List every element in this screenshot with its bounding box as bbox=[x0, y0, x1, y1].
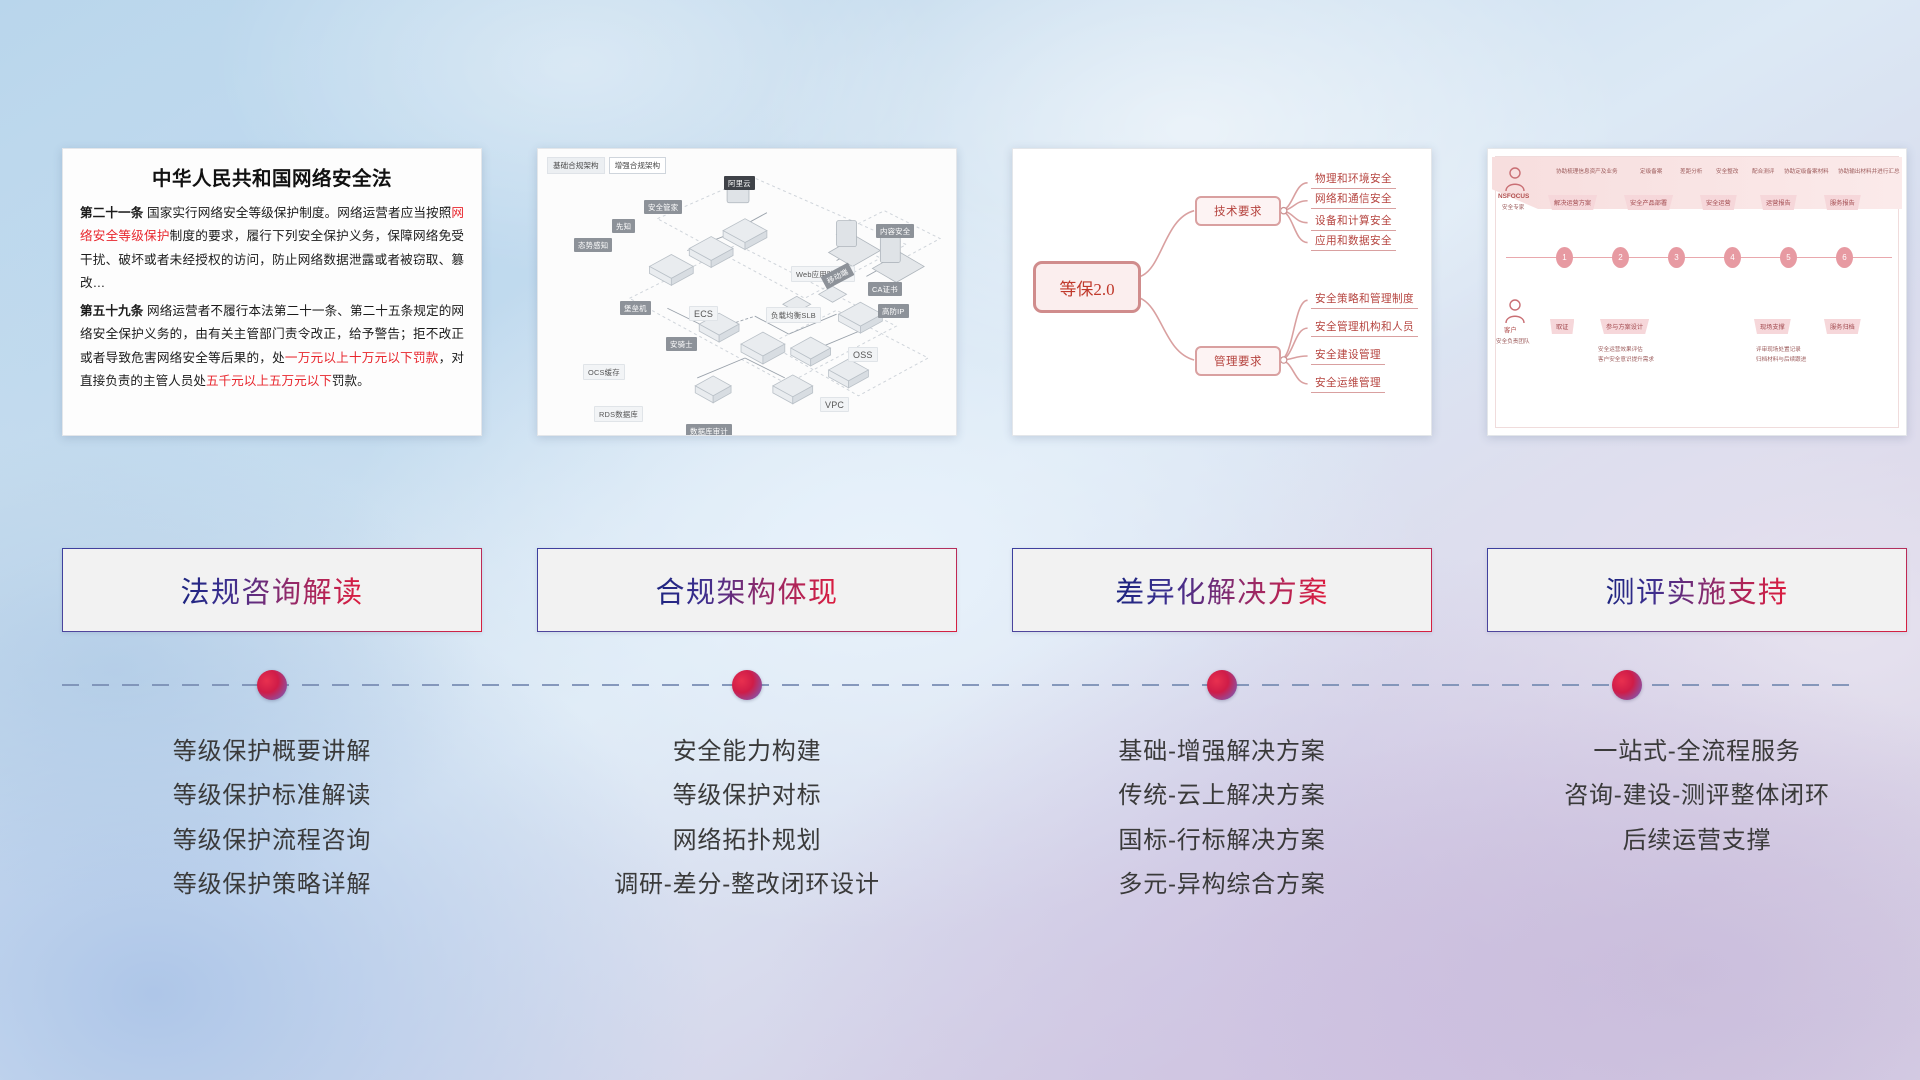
list-item: 调研-差分-整改闭环设计 bbox=[614, 869, 880, 901]
note-item: 客户安全意识提升需求 bbox=[1598, 355, 1654, 363]
brand-name: NSFOCUS bbox=[1498, 193, 1529, 200]
header-tag: 安全运营 bbox=[1700, 195, 1737, 210]
mind-branch-management: 管理要求 bbox=[1195, 346, 1281, 376]
mind-leaf: 网络和通信安全 bbox=[1311, 191, 1396, 209]
law-text-highlight: 五千元以上五万元以下 bbox=[206, 374, 332, 388]
list-item: 咨询-建设-测评整体闭环 bbox=[1564, 780, 1830, 812]
list-item: 传统-云上解决方案 bbox=[1118, 780, 1325, 812]
service-list-compliance-architecture: 安全能力构建 等级保护对标 网络拓扑规划 调研-差分-整改闭环设计 bbox=[537, 736, 957, 902]
list-item: 等级保护策略详解 bbox=[173, 869, 371, 901]
node-label-load-balancer: 负载均衡SLB bbox=[766, 307, 821, 323]
node-label-anqishi: 安骑士 bbox=[666, 337, 697, 351]
mind-leaf: 物理和环境安全 bbox=[1311, 171, 1396, 189]
node-label-xianzhi: 先知 bbox=[612, 219, 635, 233]
note-item: 安全运营效果评估 bbox=[1598, 345, 1643, 353]
timeline-dot-3 bbox=[1207, 670, 1237, 700]
thumbnail-row: 中华人民共和国网络安全法 第二十一条 国家实行网络安全等级保护制度。网络运营者应… bbox=[62, 148, 1862, 436]
mind-leaf: 安全策略和管理制度 bbox=[1311, 291, 1418, 309]
node-label-rds-database: RDS数据库 bbox=[594, 406, 643, 422]
timeline-step: 3 bbox=[1668, 247, 1685, 268]
mind-leaf: 应用和数据安全 bbox=[1311, 233, 1396, 251]
node-label-aliyun: 阿里云 bbox=[724, 176, 755, 190]
thumbnail-cloud-architecture[interactable]: 基础合规架构 增强合规架构 bbox=[537, 148, 957, 436]
node-label-database-audit: 数据库审计 bbox=[686, 424, 732, 436]
banner-row: 法规咨询解读 合规架构体现 差异化解决方案 测评实施支持 bbox=[62, 548, 1862, 632]
header-tag: 安全产品部署 bbox=[1624, 195, 1673, 210]
header-item: 定级备案 bbox=[1640, 167, 1662, 175]
list-item: 后续运营支撑 bbox=[1623, 825, 1772, 857]
note-item: 归档材料与后续跟进 bbox=[1756, 355, 1806, 363]
banner-regulation-consulting[interactable]: 法规咨询解读 bbox=[62, 548, 482, 632]
list-item: 基础-增强解决方案 bbox=[1118, 736, 1325, 768]
timeline-dashed-line bbox=[62, 684, 1862, 686]
banner-compliance-architecture[interactable]: 合规架构体现 bbox=[537, 548, 957, 632]
customer-person-icon bbox=[1502, 297, 1528, 327]
timeline-dot-1 bbox=[257, 670, 287, 700]
thumbnail-law-document[interactable]: 中华人民共和国网络安全法 第二十一条 国家实行网络安全等级保护制度。网络运营者应… bbox=[62, 148, 482, 436]
node-label-bastion-host: 堡垒机 bbox=[620, 301, 651, 315]
mind-leaf: 安全管理机构和人员 bbox=[1311, 319, 1418, 337]
law-article-number: 第二十一条 bbox=[80, 206, 143, 220]
service-list-assessment-support: 一站式-全流程服务 咨询-建设-测评整体闭环 后续运营支撑 bbox=[1487, 736, 1907, 902]
law-text-highlight: 一万元以上十万元以下罚款 bbox=[285, 351, 439, 365]
list-item: 一站式-全流程服务 bbox=[1593, 736, 1800, 768]
node-label-situation-awareness: 态势感知 bbox=[574, 238, 612, 252]
timeline-dot-2 bbox=[732, 670, 762, 700]
list-item: 等级保护概要讲解 bbox=[173, 736, 371, 768]
list-item: 等级保护流程咨询 bbox=[173, 825, 371, 857]
bottom-tag: 现场支撑 bbox=[1754, 319, 1791, 334]
banner-label: 差异化解决方案 bbox=[1115, 569, 1329, 611]
mind-map-root: 等保2.0 bbox=[1033, 261, 1141, 313]
list-item: 安全能力构建 bbox=[673, 736, 822, 768]
service-list-differentiated-solution: 基础-增强解决方案 传统-云上解决方案 国标-行标解决方案 多元-异构综合方案 bbox=[1012, 736, 1432, 902]
expert-person-icon bbox=[1502, 165, 1528, 195]
list-item: 等级保护标准解读 bbox=[173, 780, 371, 812]
law-paragraph-59: 第五十九条 网络运营者不履行本法第二十一条、第二十五条规定的网络安全保护义务的，… bbox=[80, 300, 464, 393]
banner-label: 测评实施支持 bbox=[1605, 569, 1788, 611]
header-item: 协助定级备案材料 bbox=[1784, 167, 1829, 175]
header-item: 协助输出材料并进行汇总 bbox=[1838, 167, 1900, 175]
bottom-tag: 服务归档 bbox=[1824, 319, 1861, 334]
node-label-anti-ddos-ip: 高防IP bbox=[878, 304, 909, 318]
law-text: 国家实行网络安全等级保护制度。网络运营者应当按照 bbox=[143, 206, 451, 220]
timeline-step: 4 bbox=[1724, 247, 1741, 268]
node-label-ecs: ECS bbox=[689, 306, 718, 321]
node-label-ocs-cache: OCS缓存 bbox=[583, 364, 625, 380]
timeline-step: 1 bbox=[1556, 247, 1573, 268]
header-item: 差距分析 bbox=[1680, 167, 1702, 175]
bottom-tag: 取证 bbox=[1550, 319, 1574, 334]
mind-leaf: 安全建设管理 bbox=[1311, 347, 1385, 365]
law-text: 罚款。 bbox=[332, 374, 370, 388]
header-item: 协助梳理信息资产及业务 bbox=[1556, 167, 1618, 175]
service-list-row: 等级保护概要讲解 等级保护标准解读 等级保护流程咨询 等级保护策略详解 安全能力… bbox=[62, 736, 1862, 902]
service-list-regulation-consulting: 等级保护概要讲解 等级保护标准解读 等级保护流程咨询 等级保护策略详解 bbox=[62, 736, 482, 902]
banner-assessment-support[interactable]: 测评实施支持 bbox=[1487, 548, 1907, 632]
customer-label: 客户 bbox=[1504, 325, 1517, 334]
header-item: 安全整改 bbox=[1716, 167, 1738, 175]
node-label-security-butler: 安全管家 bbox=[644, 200, 682, 214]
mind-leaf: 安全运维管理 bbox=[1311, 375, 1385, 393]
header-tag: 解决运营方案 bbox=[1548, 195, 1597, 210]
bottom-tag: 参与方案设计 bbox=[1600, 319, 1649, 334]
thumbnail-mind-map[interactable]: 等保2.0 技术要求 管理要求 物理和环境安全 网络和通信安全 设备和计算安全 … bbox=[1012, 148, 1432, 436]
mind-branch-technical: 技术要求 bbox=[1195, 196, 1281, 226]
timeline-step: 5 bbox=[1780, 247, 1797, 268]
note-item: 评审现场处置记录 bbox=[1756, 345, 1801, 353]
brand-subtitle: 安全专家 bbox=[1502, 203, 1524, 211]
list-item: 等级保护对标 bbox=[673, 780, 822, 812]
header-tag: 服务报告 bbox=[1824, 195, 1861, 210]
law-title: 中华人民共和国网络安全法 bbox=[80, 162, 464, 191]
list-item: 网络拓扑规划 bbox=[673, 825, 822, 857]
timeline-dot-4 bbox=[1612, 670, 1642, 700]
header-tag: 运营报告 bbox=[1760, 195, 1797, 210]
header-item: 配合测评 bbox=[1752, 167, 1774, 175]
mind-leaf: 设备和计算安全 bbox=[1311, 213, 1396, 231]
banner-label: 合规架构体现 bbox=[655, 569, 838, 611]
timeline-step: 2 bbox=[1612, 247, 1629, 268]
banner-label: 法规咨询解读 bbox=[180, 569, 363, 611]
timeline-step: 6 bbox=[1836, 247, 1853, 268]
node-label-vpc: VPC bbox=[820, 397, 849, 412]
customer-subtitle: 安全负责团队 bbox=[1496, 337, 1530, 345]
node-label-content-security: 内容安全 bbox=[876, 224, 914, 238]
node-label-oss: OSS bbox=[848, 347, 878, 362]
law-paragraph-21: 第二十一条 国家实行网络安全等级保护制度。网络运营者应当按照网络安全等级保护制度… bbox=[80, 202, 464, 295]
law-article-number: 第五十九条 bbox=[80, 304, 143, 318]
list-item: 国标-行标解决方案 bbox=[1118, 825, 1325, 857]
banner-differentiated-solution[interactable]: 差异化解决方案 bbox=[1012, 548, 1432, 632]
thumbnail-service-timeline[interactable]: NSFOCUS 安全专家 协助梳理信息资产及业务 定级备案 差距分析 安全整改 … bbox=[1487, 148, 1907, 436]
list-item: 多元-异构综合方案 bbox=[1118, 869, 1325, 901]
